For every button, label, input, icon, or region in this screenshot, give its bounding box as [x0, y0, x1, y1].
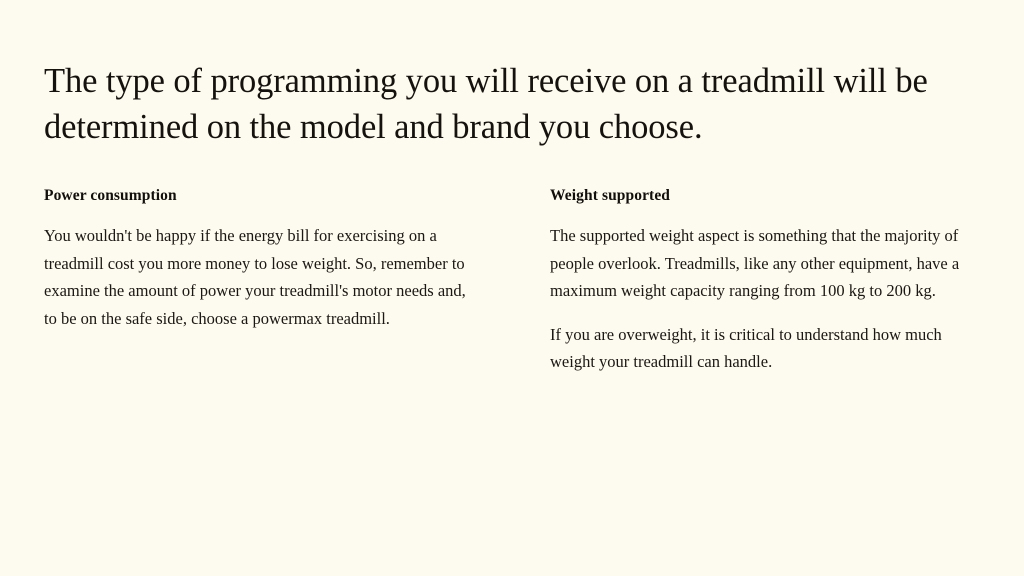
column-weight-supported: Weight supported The supported weight as…	[550, 186, 982, 376]
column-paragraph: You wouldn't be happy if the energy bill…	[44, 222, 476, 332]
page-title: The type of programming you will receive…	[44, 58, 980, 150]
slide-canvas: The type of programming you will receive…	[0, 0, 1024, 576]
column-paragraph: The supported weight aspect is something…	[550, 222, 982, 305]
column-power-consumption: Power consumption You wouldn't be happy …	[44, 186, 476, 332]
column-heading-power-consumption: Power consumption	[44, 186, 476, 206]
column-paragraph: If you are overweight, it is critical to…	[550, 321, 982, 376]
column-heading-weight-supported: Weight supported	[550, 186, 982, 206]
